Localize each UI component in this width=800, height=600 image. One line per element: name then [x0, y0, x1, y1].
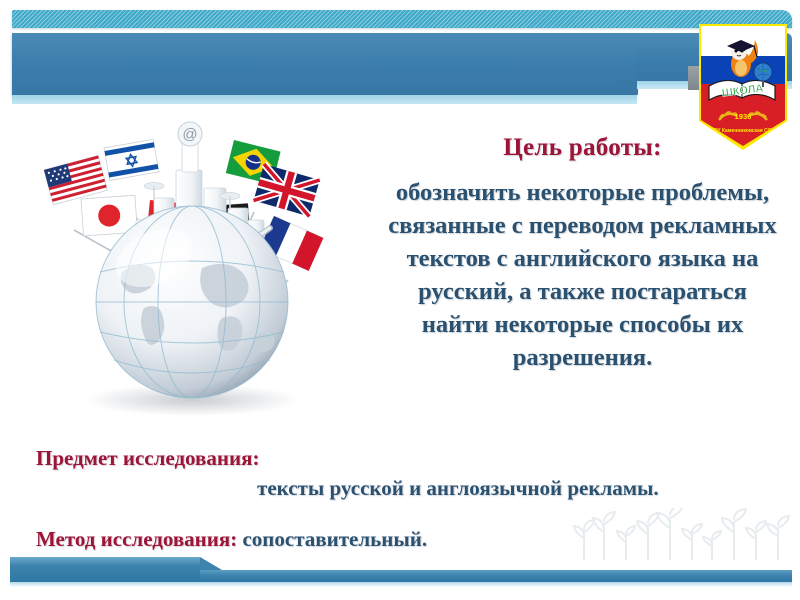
subject-value: тексты русской и англоязычной рекламы. [257, 476, 659, 501]
presentation-slide: ШКОЛА [0, 0, 800, 600]
goal-body-text: обозначить некоторые проблемы, связанные… [385, 176, 780, 374]
goal-title: Цель работы: [390, 134, 775, 162]
globe-with-flags-image: @ [26, 112, 346, 437]
subject-label: Предмет исследования: [36, 446, 259, 471]
method-row: Метод исследования: сопоставительный. [36, 527, 427, 552]
top-blue-band [12, 33, 637, 95]
top-hatched-band [12, 10, 752, 28]
bottom-bar-left [10, 557, 200, 582]
bottom-bar-shadow [10, 582, 792, 587]
sprout-decoration-svg [570, 508, 795, 560]
globe-illustration: @ [26, 112, 346, 437]
at-symbol-icon: @ [182, 126, 197, 143]
emblem-year: 1936 [735, 112, 752, 121]
bottom-bar-right [200, 570, 792, 582]
school-emblem-svg: ШКОЛА [697, 24, 789, 152]
bottom-bar-diagonal [200, 557, 222, 570]
method-label: Метод исследования: [36, 527, 237, 551]
method-value: сопоставительный. [242, 527, 427, 551]
school-emblem: ШКОЛА [697, 24, 789, 152]
top-band-notch [618, 81, 638, 95]
top-band-underline [12, 95, 637, 104]
sprout-decoration [570, 508, 795, 560]
globe-sphere [96, 206, 288, 398]
